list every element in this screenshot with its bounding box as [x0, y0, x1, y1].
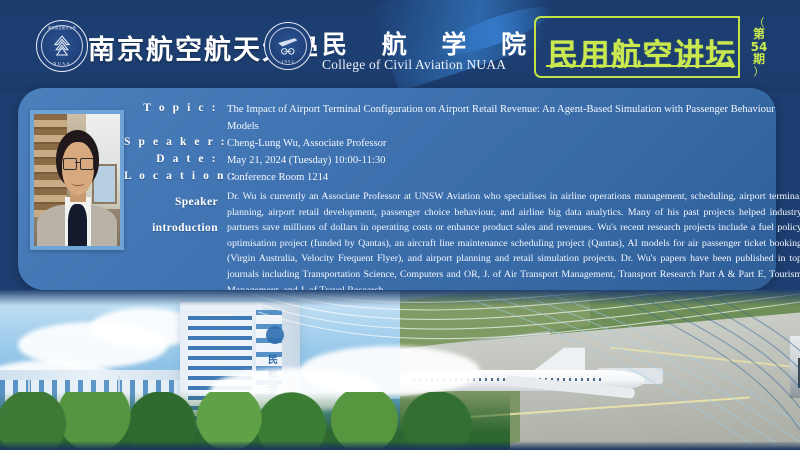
- topic-value: The Impact of Airport Terminal Configura…: [227, 102, 800, 135]
- footer-photo-band: 民航学院: [0, 290, 800, 450]
- location-label: L o c a t i o n :: [124, 170, 218, 187]
- tower-emblem-icon: [266, 326, 284, 344]
- speaker-introduction-label-line1: Speaker: [124, 189, 218, 215]
- college-name-cn: 民 航 学 院: [322, 25, 539, 61]
- band-bottom-strip: [0, 442, 800, 450]
- band-top-fade: [0, 290, 800, 306]
- location-value: Conference Room 1214: [227, 170, 328, 187]
- date-label: D a t e :: [124, 153, 218, 170]
- forum-badge-underline: [546, 65, 732, 67]
- issue-close-paren: ）: [754, 66, 765, 78]
- photo-glasses-left: [63, 158, 77, 171]
- speaker-photo: [34, 114, 120, 246]
- forum-badge-frame: 民用航空讲坛: [534, 16, 740, 78]
- seal-top-text: 南京航空航天大學: [37, 25, 87, 30]
- nuaa-seal-logo: 南京航空航天大學 NUAA: [36, 20, 88, 72]
- seal-abbr-text: NUAA: [37, 61, 87, 66]
- seminar-poster: 南京航空航天大學 NUAA 南京航空航天大學 1952 民 航 学 院 Coll…: [0, 0, 800, 450]
- speaker-photo-frame: [30, 110, 124, 250]
- date-row: D a t e : May 21, 2024 (Tuesday) 10:00-1…: [124, 153, 385, 170]
- info-panel: T o p i c : The Impact of Airport Termin…: [18, 88, 776, 290]
- speaker-introduction-label-line2: introduction: [124, 215, 218, 241]
- location-row: L o c a t i o n : Conference Room 1214: [124, 170, 328, 187]
- issue-number-block: （ 第 54 期 ）: [744, 14, 774, 80]
- terminal-building: [790, 336, 800, 398]
- info-rows: T o p i c : The Impact of Airport Termin…: [18, 88, 776, 290]
- photo-glasses-right: [80, 158, 94, 171]
- topic-row: T o p i c : The Impact of Airport Termin…: [124, 102, 800, 135]
- issue-prefix: 第: [753, 28, 765, 41]
- speaker-introduction-row: Speaker introduction Dr. Wu is currently…: [124, 189, 800, 298]
- speaker-introduction-label: Speaker introduction: [124, 189, 218, 298]
- speaker-introduction-value: Dr. Wu is currently an Associate Profess…: [227, 189, 800, 298]
- photo-glasses-bridge: [75, 162, 79, 163]
- date-value: May 21, 2024 (Tuesday) 10:00-11:30: [227, 153, 385, 170]
- forum-badge-right-bar: [738, 16, 740, 78]
- speaker-label: S p e a k e r :: [124, 136, 218, 153]
- college-seal-logo: 1952: [264, 22, 312, 70]
- forum-badge-title: 民用航空讲坛: [548, 30, 737, 74]
- college-seal-text: 1952: [265, 59, 311, 64]
- poster-header: 南京航空航天大學 NUAA 南京航空航天大學 1952 民 航 学 院 Coll…: [0, 0, 800, 92]
- pagoda-icon: [49, 34, 75, 60]
- speaker-value: Cheng-Lung Wu, Associate Professor: [227, 136, 386, 153]
- speaker-row: S p e a k e r : Cheng-Lung Wu, Associate…: [124, 136, 386, 153]
- issue-suffix: 期: [753, 53, 765, 66]
- photo-vest: [68, 204, 87, 246]
- college-name-en: College of Civil Aviation NUAA: [322, 57, 506, 73]
- topic-label: T o p i c :: [124, 102, 218, 135]
